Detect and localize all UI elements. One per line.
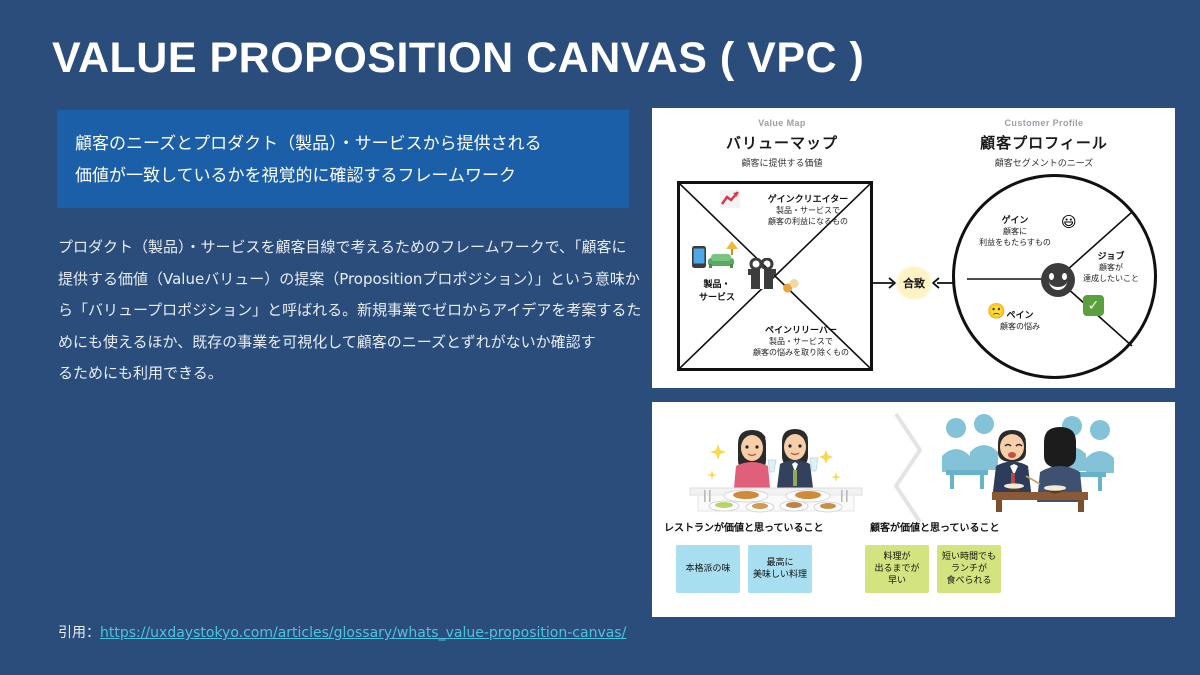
dark-smiley-face-icon [1041, 263, 1075, 297]
customer-chip-2: 短い時間でもランチが食べられる [937, 545, 1001, 593]
job-label: ジョブ 顧客が 達成したいこと [1067, 249, 1155, 284]
product-service-line-1: 製品・ [684, 277, 750, 290]
smiling-face-icon: 😃 [1061, 215, 1077, 230]
job-heading: ジョブ [1067, 249, 1155, 262]
restaurant-chip-1: 本格派の味 [676, 545, 740, 593]
gain-creator-heading: ゲインクリエイター [744, 192, 872, 205]
gain-line-1: 顧客に [967, 226, 1063, 237]
pain-line-1: 顧客の悩み [983, 321, 1057, 332]
callout-line-1: 顧客のニーズとプロダクト（製品）・サービスから提供される [75, 128, 629, 160]
customer-profile-circle: 😃 ゲイン 顧客に 利益をもたらすもの ジョブ 顧客が 達成したいこと ✓ 🙁 … [952, 174, 1157, 379]
gain-heading: ゲイン [967, 213, 1063, 226]
gain-line-2: 利益をもたらすもの [967, 237, 1063, 248]
body-line-5: るためにも利用できる。 [58, 358, 653, 390]
value-map-square: ゲインクリエイター 製品・サービスで 顧客の利益になるもの [677, 181, 873, 371]
body-line-2: 提供する価値（Valueバリュー）の提案（Propositionプロポジション）… [58, 264, 653, 296]
pain-reliever-label: ペインリリーバー 製品・サービスで 顧客の悩みを取り除くもの [728, 323, 874, 358]
pain-reliever-heading: ペインリリーバー [728, 323, 874, 336]
summary-callout-box: 顧客のニーズとプロダクト（製品）・サービスから提供される 価値が一致しているかを… [57, 110, 629, 208]
citation: 引用：https://uxdaystokyo.com/articles/glos… [58, 622, 626, 642]
body-line-4: めにも使えるほか、既存の事業を可視化して顧客のニーズとずれがないか確認す [58, 327, 653, 359]
job-line-1: 顧客が [1067, 262, 1155, 273]
customer-value-chips: 料理が出るまでが早い 短い時間でもランチが食べられる [865, 545, 1001, 593]
page-title: VALUE PROPOSITION CANVAS ( VPC ) [52, 34, 864, 83]
example-panel: レストランが価値と思っていること 顧客が価値と思っていること 本格派の味 最高に… [652, 402, 1175, 617]
body-line-3: ら「バリュープロポジション」と呼ばれる。新規事業でゼロからアイデアを考案するた [58, 295, 653, 327]
pain-reliever-line-1: 製品・サービスで [728, 336, 874, 347]
citation-link[interactable]: https://uxdaystokyo.com/articles/glossar… [100, 625, 626, 641]
pain-heading: ペイン [983, 308, 1057, 321]
gain-creator-line-2: 顧客の利益になるもの [744, 216, 872, 227]
customer-chip-1: 料理が出るまでが早い [865, 545, 929, 593]
value-map-header: Value Map バリューマップ 顧客に提供する価値 [672, 118, 892, 169]
restaurant-value-chips: 本格派の味 最高に美味しい料理 [676, 545, 812, 593]
gain-label: ゲイン 顧客に 利益をもたらすもの [967, 213, 1063, 248]
match-connector: 合致 [873, 266, 953, 300]
face-mouth [1049, 281, 1067, 290]
pain-reliever-line-2: 顧客の悩みを取り除くもの [728, 347, 874, 358]
customer-profile-title: 顧客プロフィール [934, 132, 1154, 153]
vpc-diagram-panel: Value Map バリューマップ 顧客に提供する価値 Customer Pro… [652, 108, 1175, 388]
value-map-eyebrow: Value Map [672, 118, 892, 128]
customer-profile-subtitle: 顧客セグメントのニーズ [934, 156, 1154, 169]
customer-value-caption: 顧客が価値と思っていること [870, 519, 1000, 534]
restaurant-value-caption: レストランが価値と思っていること [664, 519, 824, 534]
gain-creator-line-1: 製品・サービスで [744, 205, 872, 216]
match-badge: 合致 [895, 266, 933, 300]
slide-canvas: VALUE PROPOSITION CANVAS ( VPC ) 顧客のニーズと… [0, 0, 1200, 675]
customer-profile-eyebrow: Customer Profile [934, 118, 1154, 128]
value-map-title: バリューマップ [672, 132, 892, 153]
businessmen-lunch-illustration [932, 414, 1132, 514]
value-map-subtitle: 顧客に提供する価値 [672, 156, 892, 169]
restaurant-chip-2: 最高に美味しい料理 [748, 545, 812, 593]
callout-line-2: 価値が一致しているかを視覚的に確認するフレームワーク [75, 160, 629, 192]
couple-fine-dining-illustration [676, 414, 876, 514]
body-line-1: プロダクト（製品）・サービスを顧客目線で考えるためのフレームワークで、「顧客に [58, 232, 653, 264]
body-paragraph: プロダクト（製品）・サービスを顧客目線で考えるためのフレームワークで、「顧客に … [58, 232, 653, 390]
job-line-2: 達成したいこと [1067, 273, 1155, 284]
customer-profile-header: Customer Profile 顧客プロフィール 顧客セグメントのニーズ [934, 118, 1154, 169]
pain-label: ペイン 顧客の悩み [983, 308, 1057, 332]
face-eye-left [1049, 273, 1054, 280]
product-service-line-2: サービス [684, 290, 750, 303]
face-eye-right [1062, 273, 1067, 280]
green-check-icon: ✓ [1083, 295, 1104, 316]
product-service-label: 製品・ サービス [684, 277, 750, 303]
gain-creator-label: ゲインクリエイター 製品・サービスで 顧客の利益になるもの [744, 192, 872, 227]
citation-prefix: 引用： [58, 625, 100, 641]
